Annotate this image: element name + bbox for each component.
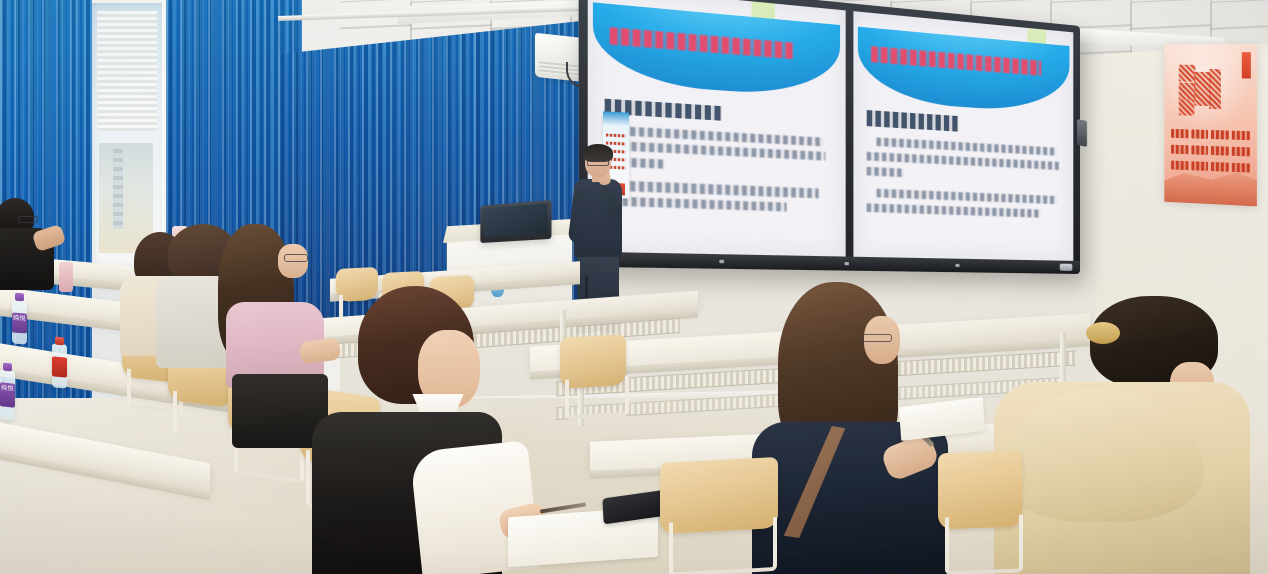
chair[interactable] (660, 457, 778, 574)
water-bottle-purple-2[interactable]: 纯悦 (0, 369, 15, 421)
chair[interactable] (560, 334, 626, 419)
display-wall-bracket (1077, 119, 1087, 147)
bottle-label-text: 纯悦 (0, 382, 15, 393)
interactive-display[interactable] (579, 0, 1080, 274)
slide-right[interactable] (853, 11, 1073, 261)
water-bottle-red[interactable] (52, 343, 67, 388)
classroom-photo: 纯悦 纯悦 (0, 0, 1268, 574)
attendee-far-right-beige (994, 296, 1268, 574)
bottle-label-text: 纯悦 (12, 312, 27, 323)
core-socialist-values-poster (1164, 44, 1257, 206)
attendee-far-left-black (0, 198, 60, 288)
slide-left-banner (593, 2, 840, 99)
bottle-label: 纯悦 (12, 312, 27, 333)
gold-hair-clip-icon (1086, 322, 1120, 344)
eyeglasses-icon (587, 159, 609, 166)
thermos-pink[interactable] (59, 262, 73, 292)
chair[interactable] (938, 451, 1022, 574)
eyeglasses-icon (862, 334, 892, 342)
eyeglasses-icon (284, 254, 308, 262)
display-brand-logo (1060, 264, 1073, 271)
eyeglasses-icon (18, 216, 38, 223)
bottle-label: 纯悦 (0, 382, 15, 408)
water-bottle-purple[interactable]: 纯悦 (12, 299, 27, 344)
poster-headline (1177, 63, 1229, 118)
lectern-monitor[interactable] (480, 200, 551, 243)
